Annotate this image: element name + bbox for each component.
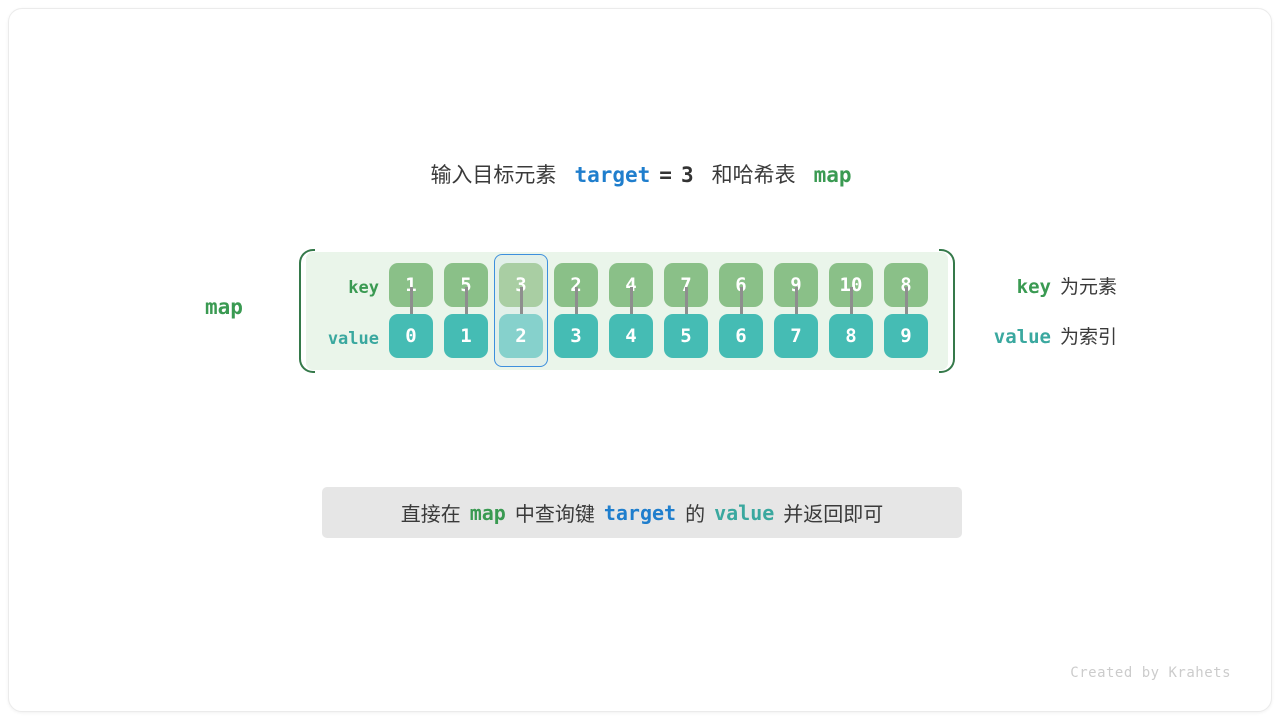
- legend-row-key: key为元素: [973, 269, 1173, 319]
- legend: key为元素 value为索引: [973, 269, 1173, 369]
- table-column[interactable]: 66: [719, 249, 763, 373]
- diagram-card: 输入目标元素target=3和哈希表map map key value 1051…: [8, 8, 1272, 712]
- caption-target-var: target: [604, 501, 676, 525]
- value-cell[interactable]: 4: [609, 314, 653, 358]
- title-part1: 输入目标元素: [430, 164, 556, 187]
- map-label: map: [205, 295, 243, 319]
- value-cell[interactable]: 9: [884, 314, 928, 358]
- value-cell[interactable]: 1: [444, 314, 488, 358]
- row-label-key: key: [309, 278, 379, 298]
- title-equals: =: [659, 163, 672, 187]
- table-column[interactable]: 89: [884, 249, 928, 373]
- caption-part3: 的: [685, 498, 705, 527]
- page-title: 输入目标元素target=3和哈希表map: [9, 159, 1272, 189]
- value-cell[interactable]: 6: [719, 314, 763, 358]
- legend-text-value: 为索引: [1060, 327, 1117, 348]
- table-column[interactable]: 75: [664, 249, 708, 373]
- table-column[interactable]: 108: [829, 249, 873, 373]
- table-column[interactable]: 32: [499, 249, 543, 373]
- title-map-var: map: [814, 163, 852, 187]
- caption-box: 直接在map中查询键target的value并返回即可: [322, 487, 962, 538]
- caption-part1: 直接在: [401, 498, 461, 527]
- legend-term-value: value: [973, 319, 1051, 355]
- title-part2: 和哈希表: [712, 164, 796, 187]
- value-cell[interactable]: 8: [829, 314, 873, 358]
- legend-row-value: value为索引: [973, 319, 1173, 369]
- caption-value-var: value: [714, 501, 774, 525]
- value-cell[interactable]: 3: [554, 314, 598, 358]
- table-column[interactable]: 97: [774, 249, 818, 373]
- table-column[interactable]: 10: [389, 249, 433, 373]
- value-cell[interactable]: 0: [389, 314, 433, 358]
- caption-part2: 中查询键: [515, 498, 595, 527]
- caption-map-var: map: [470, 501, 506, 525]
- hash-map-table: key value 105132234475669710889: [299, 249, 955, 373]
- legend-term-key: key: [973, 269, 1051, 305]
- row-label-value: value: [309, 329, 379, 349]
- table-column[interactable]: 44: [609, 249, 653, 373]
- value-cell[interactable]: 5: [664, 314, 708, 358]
- table-column[interactable]: 51: [444, 249, 488, 373]
- value-cell[interactable]: 2: [499, 314, 543, 358]
- footer-credit: Created by Krahets: [1070, 665, 1231, 681]
- caption-part4: 并返回即可: [783, 498, 883, 527]
- value-cell[interactable]: 7: [774, 314, 818, 358]
- title-target-value: 3: [681, 163, 694, 187]
- legend-text-key: 为元素: [1060, 277, 1117, 298]
- table-column[interactable]: 23: [554, 249, 598, 373]
- title-target-var: target: [574, 163, 650, 187]
